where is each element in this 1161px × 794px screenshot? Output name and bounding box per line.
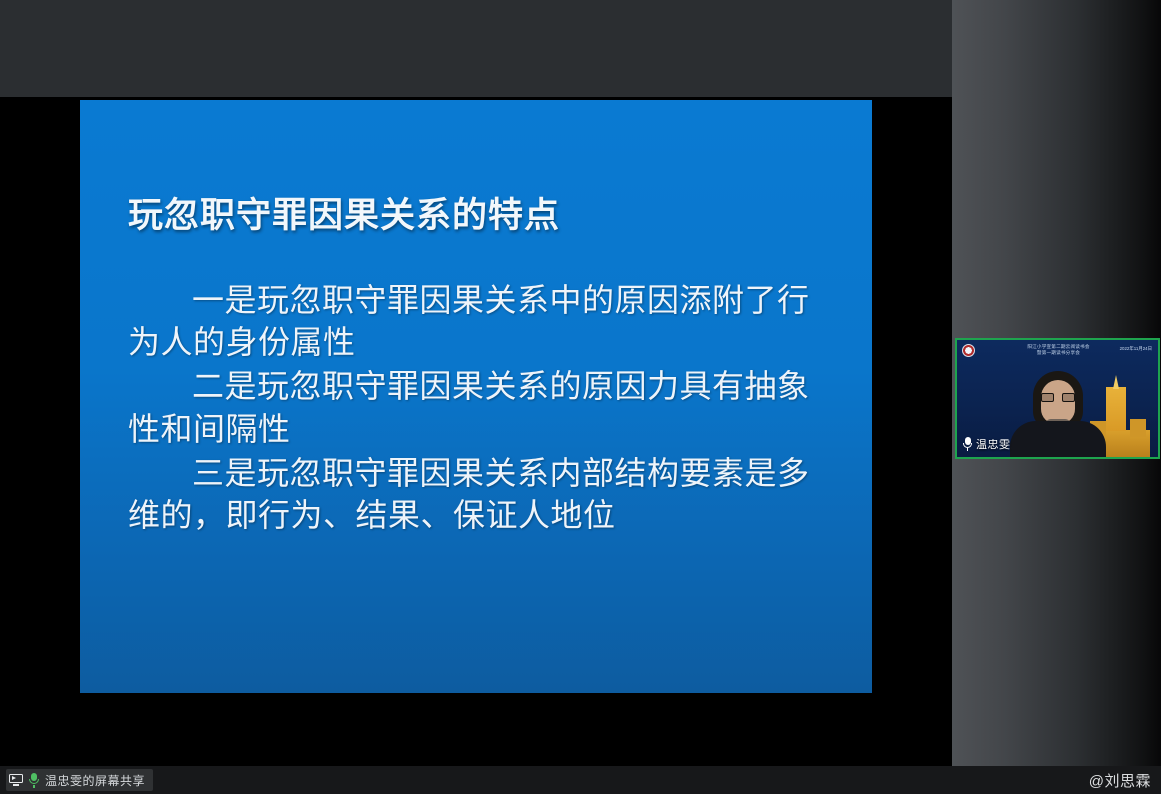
screen-share-indicator[interactable]: 温忠雯的屏幕共享	[6, 769, 153, 791]
slide-title: 玩忽职守罪因果关系的特点	[128, 195, 832, 237]
slide-paragraph-3: 三是玩忽职守罪因果关系内部结构要素是多维的，即行为、结果、保证人地位	[128, 452, 832, 536]
top-chrome-bar	[0, 0, 952, 97]
screen-share-window: 玩忽职守罪因果关系的特点 一是玩忽职守罪因果关系中的原因添附了行为人的身份属性 …	[0, 0, 1161, 794]
slide-paragraph-1: 一是玩忽职守罪因果关系中的原因添附了行为人的身份属性	[128, 279, 832, 363]
microphone-icon	[29, 773, 39, 788]
watermark-label: @刘思霖	[1089, 770, 1151, 791]
share-status-text: 温忠雯的屏幕共享	[45, 772, 145, 789]
virtual-background-date: 2022年11月24日	[1120, 346, 1152, 352]
glasses-icon	[1041, 393, 1075, 402]
presentation-slide: 玩忽职守罪因果关系的特点 一是玩忽职守罪因果关系中的原因添附了行为人的身份属性 …	[80, 100, 872, 693]
participant-webcam-figure	[1010, 371, 1106, 457]
microphone-icon	[963, 437, 972, 451]
screen-share-icon	[9, 774, 23, 786]
video-name-overlay: 温忠雯	[963, 436, 1011, 452]
bottom-status-bar: 温忠雯的屏幕共享 @刘思霖	[0, 766, 1161, 794]
slide-body: 一是玩忽职守罪因果关系中的原因添附了行为人的身份属性 二是玩忽职守罪因果关系的原…	[128, 279, 832, 536]
participant-name-label: 温忠雯	[976, 436, 1011, 452]
slide-content: 玩忽职守罪因果关系的特点 一是玩忽职守罪因果关系中的原因添附了行为人的身份属性 …	[80, 100, 872, 693]
slide-paragraph-2: 二是玩忽职守罪因果关系的原因力具有抽象性和间隔性	[128, 365, 832, 449]
video-tile-active-speaker[interactable]: 阳江小学宣第二期云阅读书会 暨第一期读书分享会 2022年11月24日	[955, 338, 1160, 459]
